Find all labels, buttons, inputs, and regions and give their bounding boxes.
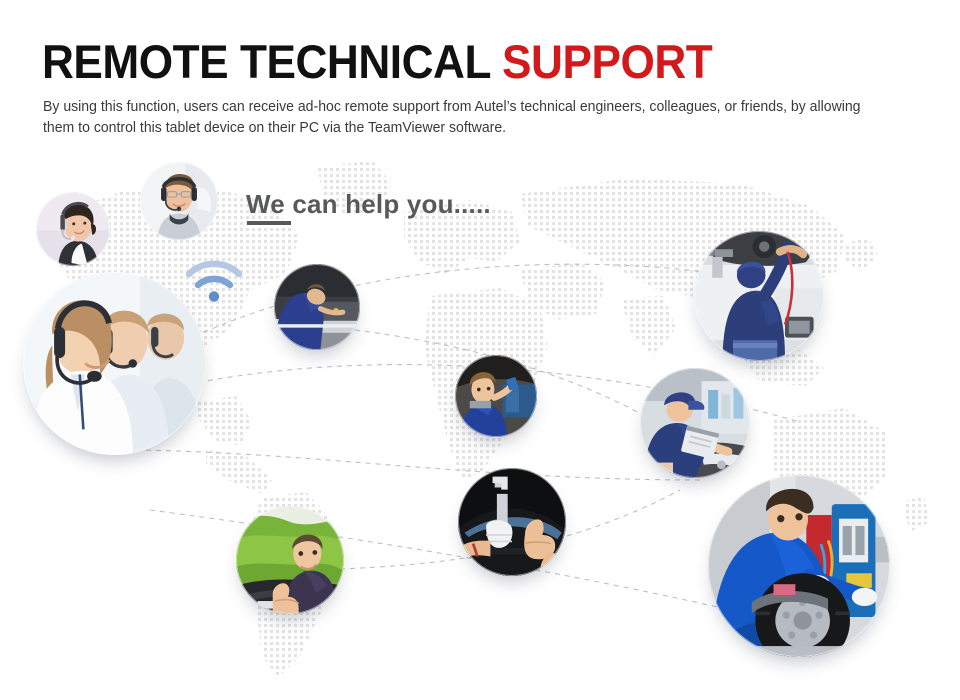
tagline: We can help you..... [246, 189, 491, 220]
photo-tech-clipboard [640, 368, 750, 478]
photo-tech-under-vehicle [455, 355, 537, 437]
node-wrench-thumbs-up [458, 468, 566, 576]
photo-tech-thumbs-up-outdoor [236, 506, 344, 614]
page-title: REMOTE TECHNICAL SUPPORT [42, 36, 712, 88]
page-subtitle: By using this function, users can receiv… [43, 97, 877, 139]
page-header: REMOTE TECHNICAL SUPPORT By using this f… [0, 0, 960, 150]
node-tech-under-vehicle [455, 355, 537, 437]
photo-call-center-team [23, 272, 206, 455]
page-title-primary: REMOTE TECHNICAL [42, 35, 490, 88]
node-tire-service [708, 475, 890, 657]
photo-wrench-thumbs-up [458, 468, 566, 576]
node-tech-thumbs-up-outdoor [236, 506, 344, 614]
photo-agent-male-headset [140, 162, 218, 240]
page-title-accent: SUPPORT [502, 35, 712, 88]
node-agent-female-headset [36, 192, 110, 266]
photo-agent-female-headset [36, 192, 110, 266]
node-tech-engine-bay [274, 264, 360, 350]
wifi-signal-icon [185, 258, 243, 306]
photo-tech-lift-inspection [694, 231, 824, 361]
photo-tech-engine-bay [274, 264, 360, 350]
node-tech-lift-inspection [694, 231, 824, 361]
node-tech-clipboard [640, 368, 750, 478]
tagline-text: We can help you..... [246, 189, 491, 220]
node-call-center-team [23, 272, 206, 455]
photo-tire-service [708, 475, 890, 657]
node-agent-male-headset [140, 162, 218, 240]
tagline-underline [247, 221, 291, 225]
remote-technical-support-page: REMOTE TECHNICAL SUPPORT By using this f… [0, 0, 960, 700]
